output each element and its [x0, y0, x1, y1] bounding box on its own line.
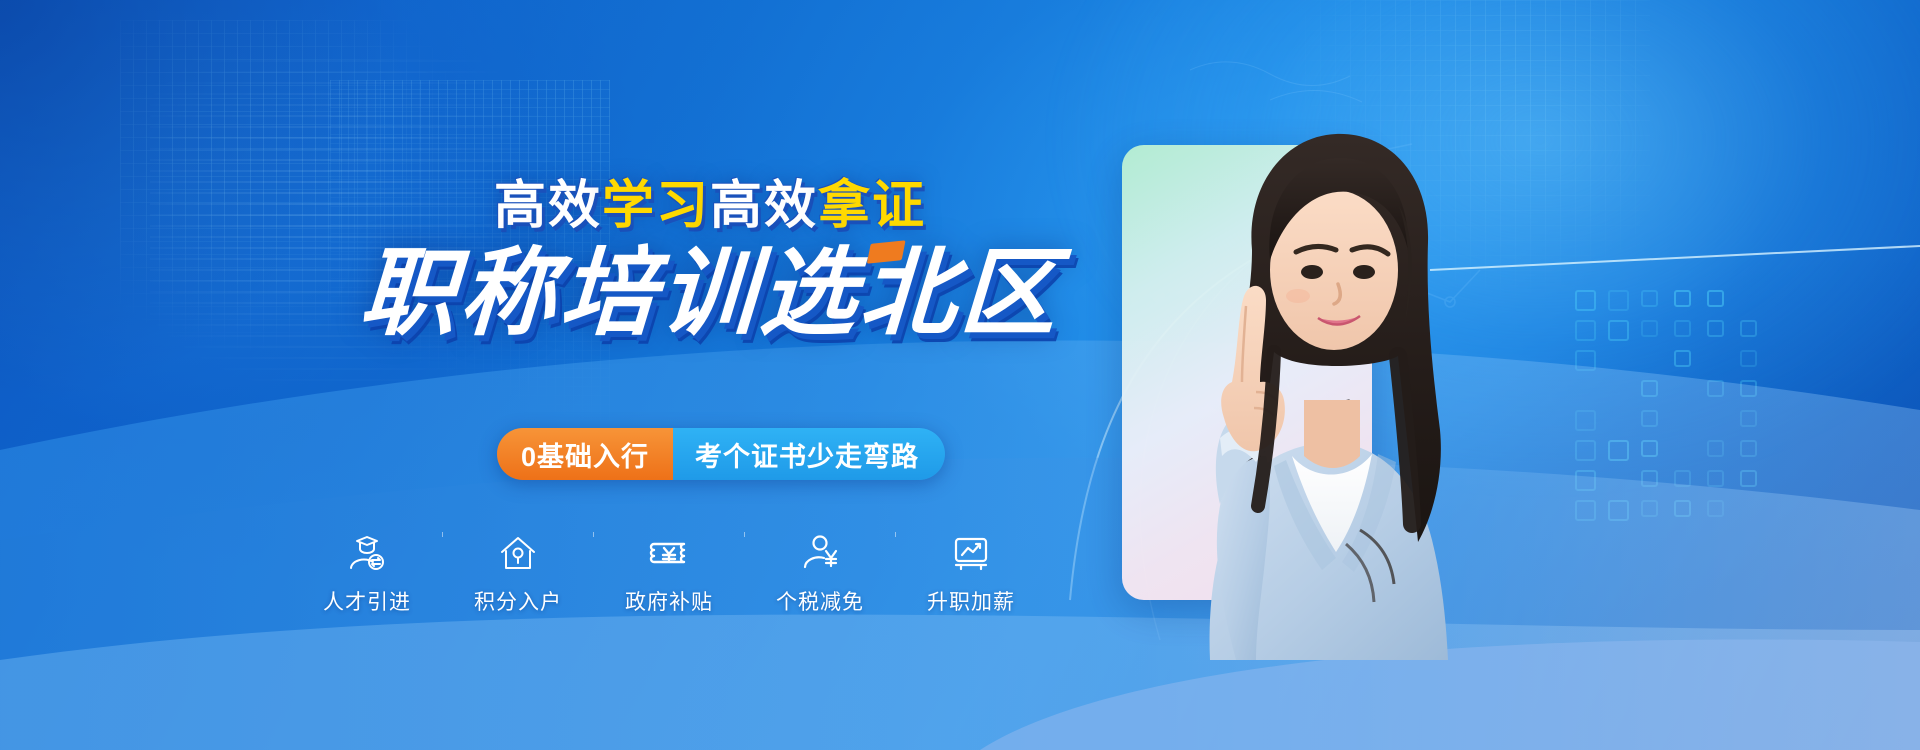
feature-label: 积分入户: [474, 586, 562, 616]
feature-label: 人才引进: [323, 586, 411, 616]
subheadline-part-2-highlight: 学习: [602, 177, 710, 235]
person-yuan-icon: [798, 530, 842, 576]
tagline-pill[interactable]: 0基础入行 考个证书少走弯路: [497, 428, 945, 480]
feature-item-government-subsidy[interactable]: 政府补贴: [602, 530, 736, 616]
feature-item-points-residency[interactable]: 积分入户: [451, 530, 585, 616]
feature-label: 个税减免: [776, 586, 864, 616]
house-pin-icon: [496, 530, 540, 576]
main-headline: 职称培训选北区: [327, 246, 1092, 342]
feature-divider: [593, 532, 594, 594]
feature-item-tax-reduction[interactable]: 个税减免: [753, 530, 887, 616]
tagline-left: 0基础入行: [497, 428, 673, 480]
ticket-yuan-icon: [647, 530, 691, 576]
feature-item-talent-introduction[interactable]: 人才引进: [300, 530, 434, 616]
feature-divider: [442, 532, 443, 594]
tagline-right: 考个证书少走弯路: [673, 428, 945, 480]
feature-label: 升职加薪: [927, 586, 1015, 616]
subheadline: 高效学习高效拿证: [330, 180, 1090, 232]
subheadline-part-1: 高效: [494, 177, 602, 235]
feature-divider: [744, 532, 745, 594]
promo-banner: 高效学习高效拿证 职称培训选北区 0基础入行 考个证书少走弯路: [0, 0, 1920, 750]
banner-content: 高效学习高效拿证 职称培训选北区 0基础入行 考个证书少走弯路: [0, 0, 1920, 750]
feature-divider: [895, 532, 896, 594]
subheadline-part-3: 高效: [710, 177, 818, 235]
headline-block: 高效学习高效拿证 职称培训选北区: [330, 180, 1090, 342]
feature-item-promotion-raise[interactable]: 升职加薪: [904, 530, 1038, 616]
graduate-exchange-icon: [345, 530, 389, 576]
feature-label: 政府补贴: [625, 586, 713, 616]
orange-accent-shape: [867, 240, 906, 263]
feature-list: 人才引进 积分入户: [300, 530, 1038, 616]
main-headline-text: 职称培训选北区: [357, 240, 1063, 347]
chart-board-icon: [949, 530, 993, 576]
subheadline-part-4-highlight: 拿证: [818, 177, 926, 235]
